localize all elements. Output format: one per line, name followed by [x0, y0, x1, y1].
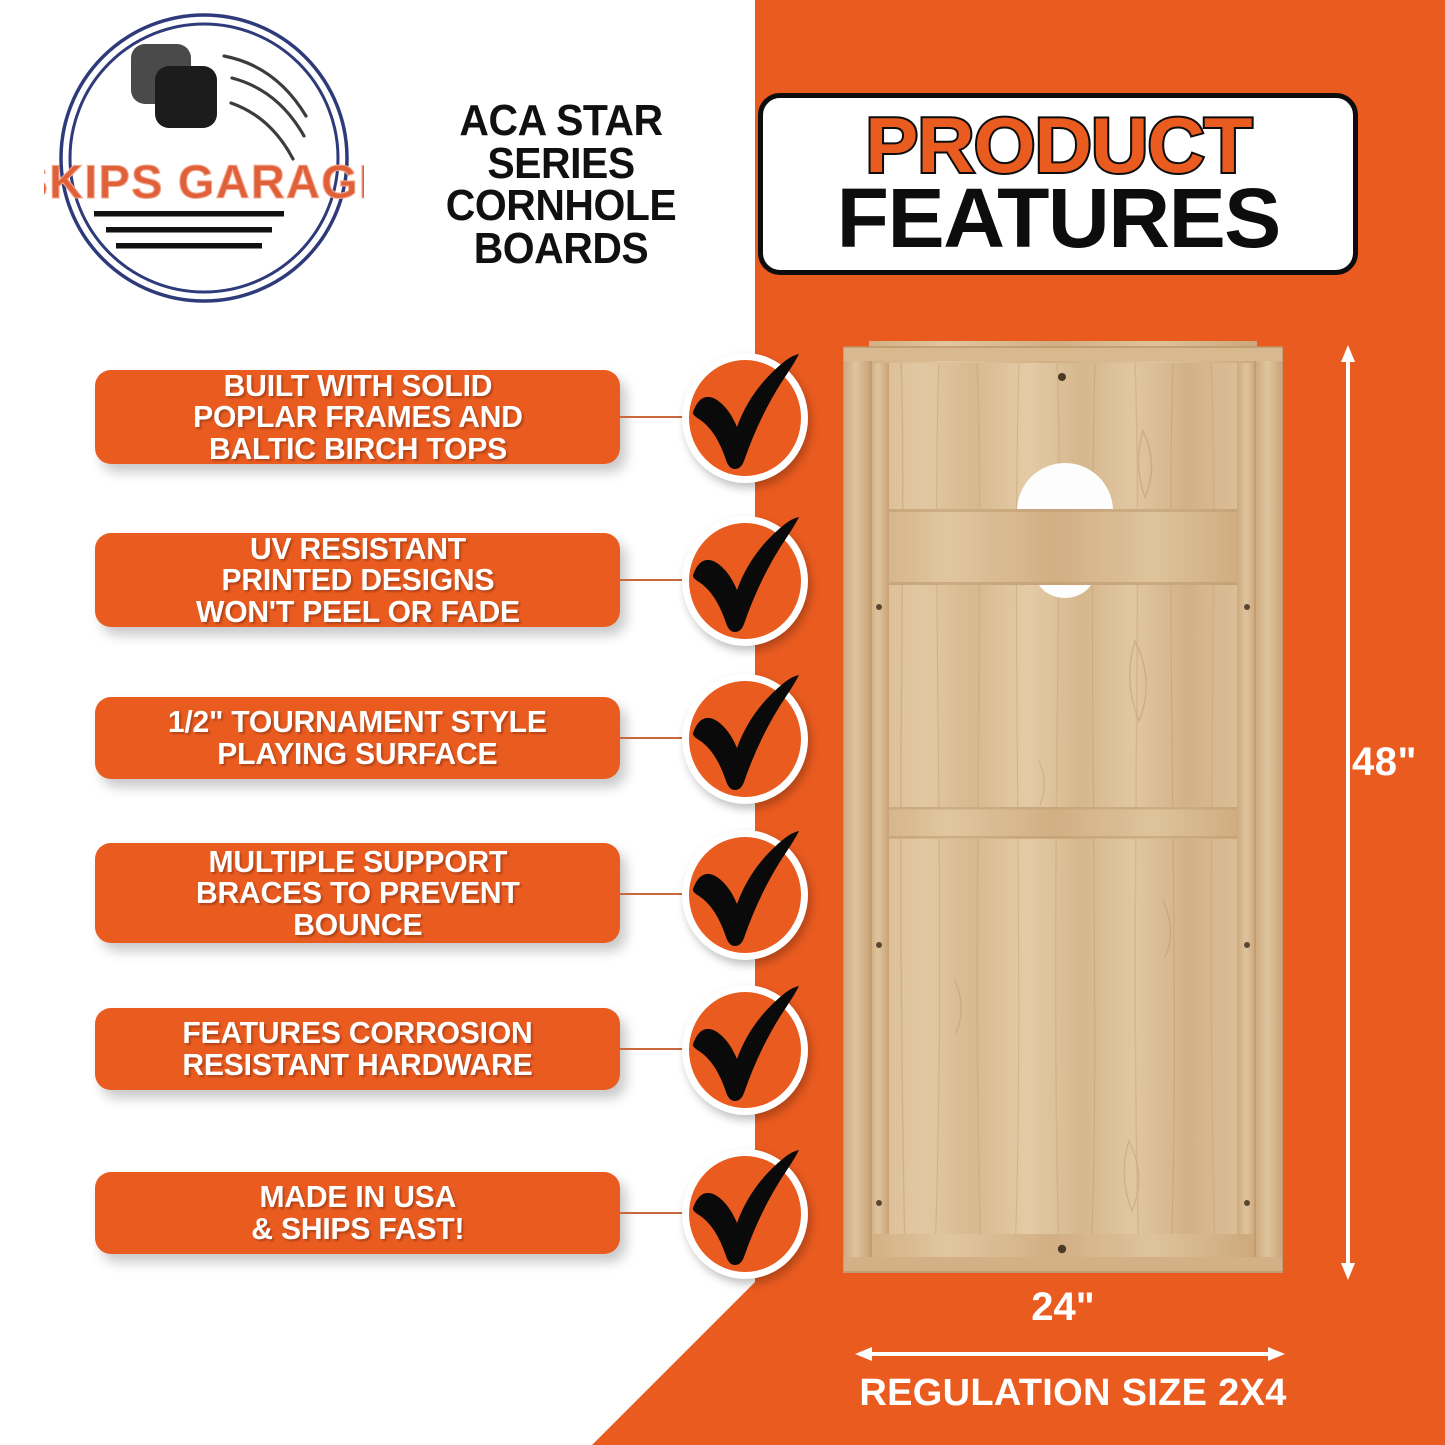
feature-pill-1[interactable]: BUILT WITH SOLID POPLAR FRAMES AND BALTI…: [95, 370, 620, 464]
feature-pill-2[interactable]: UV RESISTANT PRINTED DESIGNS WON'T PEEL …: [95, 533, 620, 627]
logo-graphic: SKIPS GARAGE: [44, 8, 364, 308]
feature-pill-3[interactable]: 1/2" TOURNAMENT STYLE PLAYING SURFACE: [95, 697, 620, 779]
check-icon: [676, 975, 814, 1125]
feature-pill-2-text: UV RESISTANT PRINTED DESIGNS WON'T PEEL …: [196, 533, 520, 628]
frame-left: [843, 347, 871, 1272]
regulation-size-label: REGULATION SIZE 2X4: [843, 1372, 1303, 1415]
headline-line-3: CORNHOLE: [408, 185, 715, 228]
feature-check-badge-6: [676, 1139, 814, 1289]
feature-check-badge-2: [676, 506, 814, 656]
logo-rule-1: [94, 211, 284, 217]
check-icon: [676, 343, 814, 493]
product-features-word-features: FEATURES: [836, 180, 1279, 257]
product-headline: ACA STAR SERIES CORNHOLE BOARDS: [408, 100, 715, 271]
motion-arc-1: [224, 56, 306, 116]
height-dimension-label: 48": [1352, 740, 1417, 785]
screw-bottom: [1058, 1245, 1066, 1253]
width-dimension-label: 24": [843, 1285, 1283, 1330]
support-brace-lower: [869, 807, 1257, 839]
feature-check-badge-4: [676, 820, 814, 970]
check-icon: [676, 506, 814, 656]
headline-line-4: BOARDS: [408, 228, 715, 271]
frame-bottom: [843, 1257, 1283, 1273]
headline-line-2: SERIES: [408, 143, 715, 186]
side-rail-right: [1237, 359, 1257, 1258]
frame-right: [1255, 347, 1283, 1272]
check-icon: [676, 820, 814, 970]
support-brace-upper: [869, 509, 1257, 585]
feature-pill-4[interactable]: MULTIPLE SUPPORT BRACES TO PREVENT BOUNC…: [95, 843, 620, 943]
screw-right-bottom: [1244, 1200, 1250, 1206]
side-rail-left: [869, 359, 889, 1258]
logo-rule-3: [116, 243, 262, 249]
check-icon: [676, 664, 814, 814]
feature-check-badge-3: [676, 664, 814, 814]
screw-top: [1058, 373, 1066, 381]
frame-top: [843, 347, 1283, 361]
square-front-icon: [155, 66, 217, 128]
headline-line-1: ACA STAR: [408, 100, 715, 143]
feature-pill-4-text: MULTIPLE SUPPORT BRACES TO PREVENT BOUNC…: [196, 846, 520, 941]
screw-right-lower: [1244, 942, 1250, 948]
infographic-canvas: SKIPS GARAGE ACA STAR SERIES CORNHOLE BO…: [0, 0, 1445, 1445]
logo-wordmark: SKIPS GARAGE: [44, 155, 364, 208]
check-icon: [676, 1139, 814, 1289]
feature-pill-5-text: FEATURES CORROSION RESISTANT HARDWARE: [182, 1017, 532, 1080]
logo-rule-2: [106, 227, 272, 233]
screw-left-lower: [876, 942, 882, 948]
motion-arc-3: [231, 103, 293, 159]
width-dimension-arrow: [855, 1345, 1285, 1363]
cornhole-board-image: [843, 341, 1283, 1276]
feature-check-badge-5: [676, 975, 814, 1125]
screw-left-upper: [876, 604, 882, 610]
product-features-header-box: PRODUCT FEATURES: [758, 93, 1358, 275]
feature-pill-5[interactable]: FEATURES CORROSION RESISTANT HARDWARE: [95, 1008, 620, 1090]
feature-pill-6[interactable]: MADE IN USA & SHIPS FAST!: [95, 1172, 620, 1254]
screw-left-bottom: [876, 1200, 882, 1206]
feature-check-badge-1: [676, 343, 814, 493]
feature-pill-6-text: MADE IN USA & SHIPS FAST!: [251, 1181, 464, 1244]
feature-pill-3-text: 1/2" TOURNAMENT STYLE PLAYING SURFACE: [168, 706, 547, 769]
screw-right-upper: [1244, 604, 1250, 610]
feature-pill-1-text: BUILT WITH SOLID POPLAR FRAMES AND BALTI…: [193, 370, 523, 465]
height-dimension-arrow: [1339, 345, 1357, 1280]
brand-logo: SKIPS GARAGE: [44, 8, 364, 308]
